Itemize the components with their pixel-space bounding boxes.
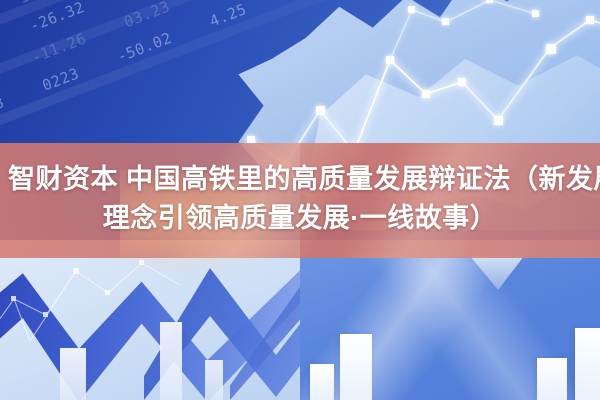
cover-title: 智财资本 中国高铁里的高质量发展辩证法（新发展 理念引领高质量发展·一线故事） [0, 160, 600, 238]
bar-column [340, 334, 372, 400]
bar-column [205, 360, 223, 400]
bar-column [575, 328, 600, 400]
bar-column [537, 358, 567, 400]
bar-column [310, 364, 334, 400]
title-line-1: 智财资本 中国高铁里的高质量发展辩证法（新发展 [0, 160, 600, 199]
chart-branch [390, 0, 539, 60]
cover-image: -45.00-11.26+5.0221.058.32 2.26-02.36-02… [0, 0, 600, 400]
title-line-2: 理念引领高质量发展·一线故事） [0, 199, 600, 238]
